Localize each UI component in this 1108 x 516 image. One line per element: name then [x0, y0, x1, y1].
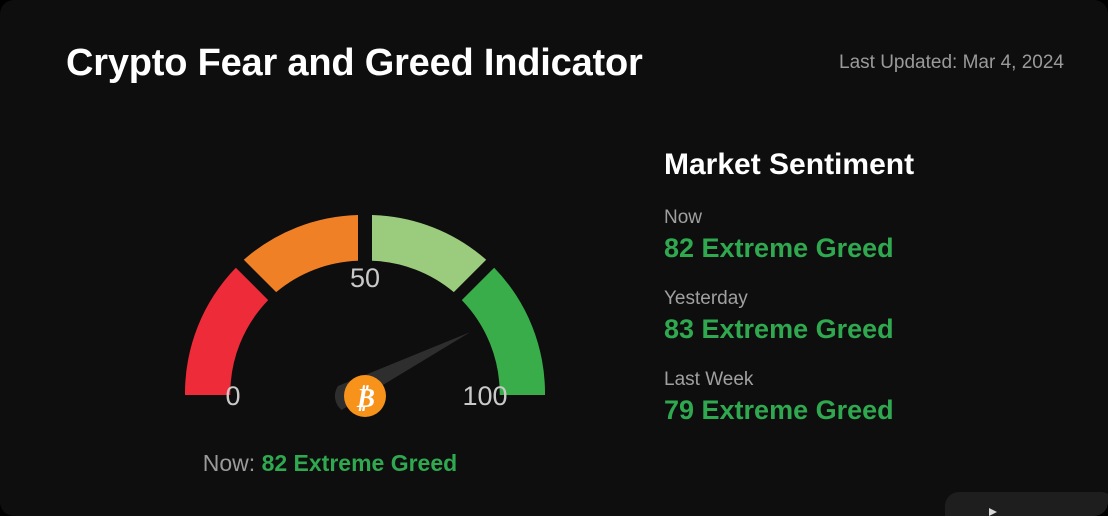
fear-greed-gauge: 0 50 100 ₿: [0, 120, 660, 450]
bitcoin-icon: ₿: [344, 375, 386, 417]
gauge-segment-fear: [244, 215, 358, 292]
fear-greed-card: Crypto Fear and Greed Indicator Last Upd…: [0, 0, 1108, 516]
market-sentiment-panel: Market Sentiment Now 82 Extreme Greed Ye…: [664, 150, 1084, 429]
gauge-tick-50: 50: [350, 263, 380, 293]
play-arrow-icon: [989, 508, 997, 516]
sentiment-value-yesterday: 83 Extreme Greed: [664, 311, 1084, 347]
gauge-caption: Now: 82 Extreme Greed: [0, 450, 660, 477]
last-updated-text: Last Updated: Mar 4, 2024: [839, 52, 1064, 74]
sentiment-value-last-week: 79 Extreme Greed: [664, 392, 1084, 428]
sentiment-value-now: 82 Extreme Greed: [664, 230, 1084, 266]
market-sentiment-title: Market Sentiment: [664, 150, 1084, 180]
gauge-caption-label: Now:: [203, 450, 255, 476]
page-title: Crypto Fear and Greed Indicator: [66, 42, 643, 85]
sentiment-row-now: Now 82 Extreme Greed: [664, 206, 1084, 266]
sentiment-label-now: Now: [664, 206, 1084, 230]
gauge-segment-extreme-fear: [185, 268, 268, 395]
sentiment-row-last-week: Last Week 79 Extreme Greed: [664, 368, 1084, 428]
gauge-tick-0: 0: [225, 381, 240, 411]
sentiment-label-last-week: Last Week: [664, 368, 1084, 392]
floating-widget[interactable]: [945, 492, 1108, 516]
sentiment-label-yesterday: Yesterday: [664, 287, 1084, 311]
gauge-caption-value: 82 Extreme Greed: [262, 450, 458, 476]
bitcoin-icon-glyph: ₿: [355, 383, 375, 413]
gauge-panel: 0 50 100 ₿ Now: 82 Extreme Greed: [0, 120, 660, 516]
gauge-segment-greed: [372, 215, 486, 292]
gauge-segment-extreme-greed: [462, 268, 545, 395]
header: Crypto Fear and Greed Indicator Last Upd…: [0, 0, 1108, 110]
gauge-tick-100: 100: [462, 381, 507, 411]
sentiment-row-yesterday: Yesterday 83 Extreme Greed: [664, 287, 1084, 347]
